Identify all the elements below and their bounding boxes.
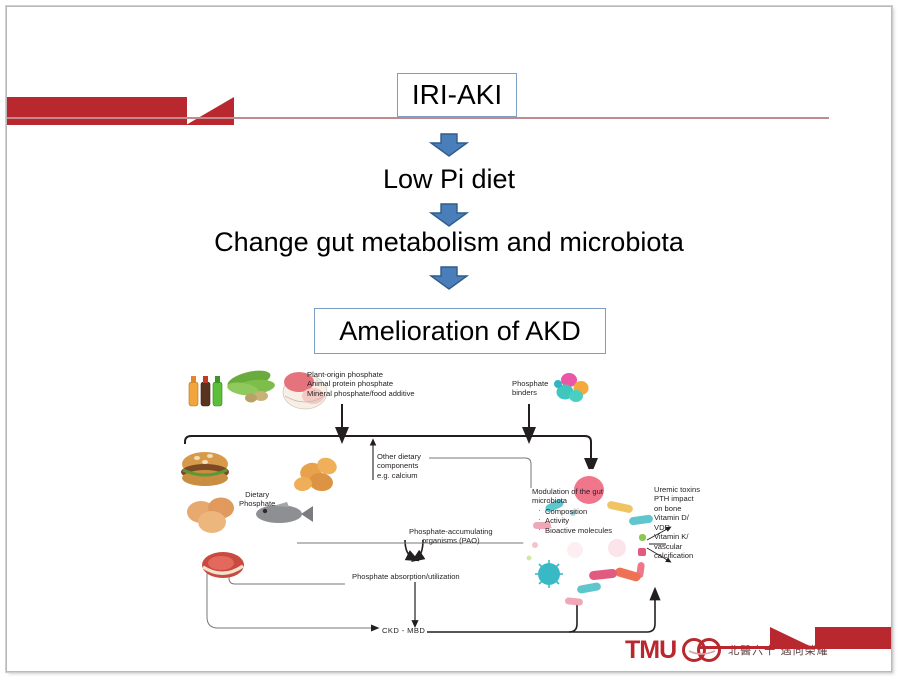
flow-node-amelioration-akd-label: Amelioration of AKD bbox=[339, 316, 581, 347]
down-arrow-1 bbox=[427, 132, 471, 163]
flow-node-low-pi-diet-label: Low Pi diet bbox=[383, 164, 515, 194]
gut-microbiota-bullets: Composition Activity Bioactive molecules bbox=[538, 507, 642, 535]
label-ckd-mbd: CKD - MBD bbox=[382, 626, 425, 635]
down-arrow-3 bbox=[427, 265, 471, 296]
flow-node-iri-aki: IRI-AKI bbox=[397, 73, 517, 117]
flow-node-change-gut: Change gut metabolism and microbiota bbox=[7, 227, 891, 258]
label-clinical-outcomes: Uremic toxins PTH impact on bone Vitamin… bbox=[654, 485, 714, 561]
food-images bbox=[181, 367, 339, 578]
label-phosphate-sources: Plant-origin phosphate Animal protein ph… bbox=[307, 370, 415, 398]
flow-node-low-pi-diet: Low Pi diet bbox=[7, 164, 891, 195]
footer-red-banner bbox=[815, 627, 891, 649]
gut-bullet: Composition bbox=[538, 507, 642, 516]
footer-red-banner-taper bbox=[770, 627, 816, 649]
flow-node-amelioration-akd: Amelioration of AKD bbox=[314, 308, 606, 354]
flow-node-change-gut-label: Change gut metabolism and microbiota bbox=[214, 227, 684, 257]
label-dietary-phosphate: Dietary Phosphate bbox=[239, 490, 275, 509]
flow-node-iri-aki-label: IRI-AKI bbox=[412, 79, 502, 111]
slide-canvas: IRI-AKI Low Pi diet Change gut metabolis… bbox=[6, 6, 892, 672]
label-phosphate-absorption: Phosphate absorption/utilization bbox=[352, 572, 460, 581]
top-left-red-banner bbox=[7, 97, 187, 125]
header-rule bbox=[7, 117, 829, 119]
phosphate-binders-pills bbox=[554, 373, 589, 402]
gut-bullet: Bioactive molecules bbox=[538, 526, 642, 535]
logo-brand-text: TMU bbox=[625, 638, 676, 663]
phosphate-microbiota-diagram: Plant-origin phosphate Animal protein ph… bbox=[177, 362, 737, 652]
top-left-red-banner-taper bbox=[186, 97, 234, 125]
label-gut-microbiota: Modulation of the gut microbiota Composi… bbox=[532, 487, 642, 535]
label-phosphate-binders: Phosphate binders bbox=[512, 379, 548, 398]
label-other-dietary-components: Other dietary components e.g. calcium bbox=[377, 452, 421, 480]
logo-anniversary-mark bbox=[681, 637, 723, 663]
gut-bullet: Activity bbox=[538, 516, 642, 525]
label-phosphate-accumulating-organisms: Phosphate-accumulating organisms (PAO) bbox=[409, 527, 493, 546]
